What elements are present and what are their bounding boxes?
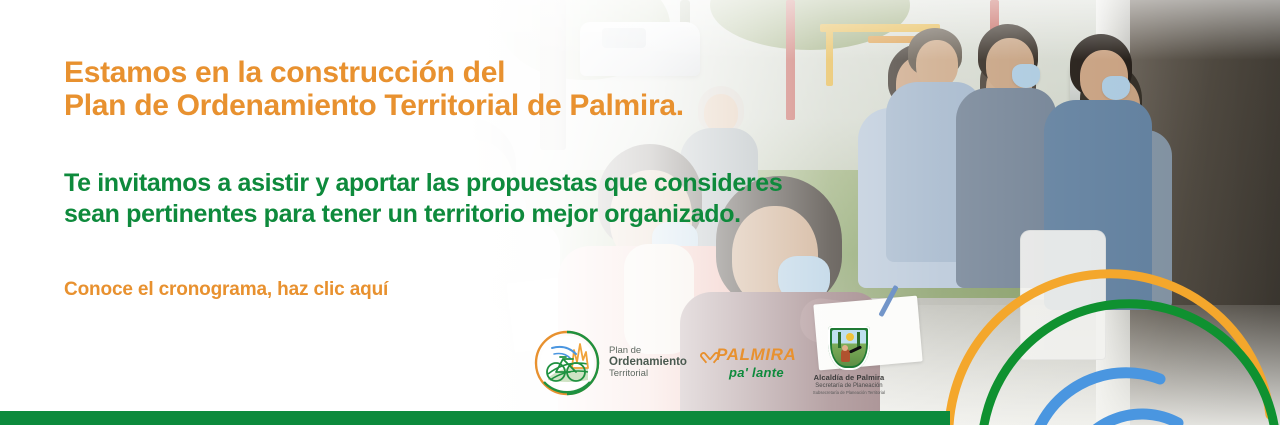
headline-line-2: Plan de Ordenamiento Territorial de Palm…	[64, 89, 684, 122]
pot-logo[interactable]: Plan de Ordenamiento Territorial	[532, 328, 687, 398]
pot-text-line-2: Ordenamiento	[609, 357, 687, 369]
alcaldia-logo[interactable]: Alcaldía de Palmira Secretaría de Planea…	[803, 326, 895, 400]
subheading-line-1: Te invitamos a asistir y aportar las pro…	[64, 169, 782, 197]
cronograma-link[interactable]: Conoce el cronograma, haz clic aquí	[64, 279, 388, 301]
headline-line-1: Estamos en la construcción del	[64, 56, 505, 89]
logo-row: Plan de Ordenamiento Territorial PALMIRA…	[532, 325, 895, 400]
banner-headline: Estamos en la construcción del Plan de O…	[64, 56, 684, 122]
pot-emblem-icon	[532, 328, 602, 398]
pot-text-line-3: Territorial	[609, 368, 687, 380]
alcaldia-shield-icon	[828, 326, 870, 370]
alcaldia-line-1: Alcaldía de Palmira	[814, 373, 885, 382]
palmira-tagline: pa' lante	[729, 365, 784, 380]
pot-palmira-banner: Estamos en la construcción del Plan de O…	[0, 0, 1280, 425]
palmira-logo[interactable]: PALMIRA pa' lante	[703, 337, 787, 389]
footer-green-bar	[0, 411, 950, 425]
alcaldia-line-3: Subsecretaría de Planeación Territorial	[813, 390, 885, 395]
banner-subheading: Te invitamos a asistir y aportar las pro…	[64, 168, 782, 230]
alcaldia-line-2: Secretaría de Planeación	[815, 383, 882, 389]
pot-logo-text: Plan de Ordenamiento Territorial	[609, 345, 687, 380]
palmira-wordmark: PALMIRA	[716, 345, 796, 365]
subheading-line-2: sean pertinentes para tener un territori…	[64, 199, 782, 230]
